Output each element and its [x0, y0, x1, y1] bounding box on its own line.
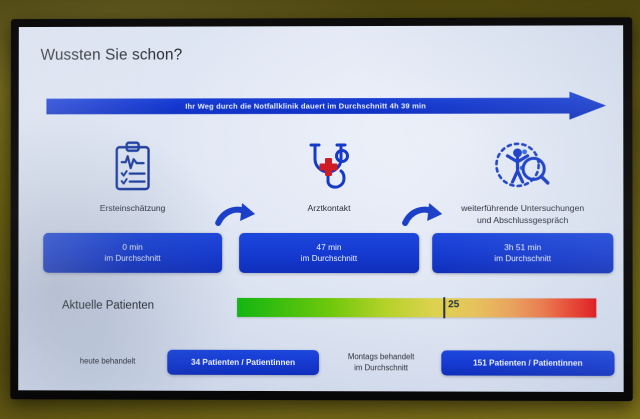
stethoscope-cross-icon	[239, 138, 419, 196]
journey-banner: Ihr Weg durch die Notfallklinik dauert i…	[46, 92, 606, 121]
stage-value-pill: 0 min im Durchschnitt	[43, 233, 222, 273]
slide-screen: Wussten Sie schon? Ihr Weg durch die Not…	[18, 25, 623, 392]
stat-caption: heute behandelt	[62, 357, 153, 368]
stage-value-sub: im Durchschnitt	[494, 253, 551, 265]
stage-value: 0 min	[122, 241, 142, 253]
stage-value-pill: 3h 51 min im Durchschnitt	[432, 233, 613, 273]
current-patients-gauge: Aktuelle Patienten 25	[18, 296, 623, 323]
stage-label-line1: weiterführende Untersuchungen	[432, 203, 613, 215]
stage-label-line2: und Abschlussgespräch	[432, 215, 613, 227]
stat-value-pill: 151 Patienten / Patientinnen	[441, 350, 614, 376]
stage-arztkontakt: Arztkontakt 47 min im Durchschnitt	[239, 138, 419, 273]
stat-caption-line1: Montags behandelt	[335, 352, 427, 363]
stage-value-pill: 47 min im Durchschnitt	[239, 233, 419, 273]
photo-scene: Wussten Sie schon? Ihr Weg durch die Not…	[0, 0, 640, 419]
stage-label: Ersteinschätzung	[43, 203, 222, 227]
stage-value-sub: im Durchschnitt	[301, 253, 357, 265]
stage-ersteinschaetzung: Ersteinschätzung 0 min im Durchschnitt	[43, 138, 222, 273]
gauge-label: Aktuelle Patienten	[62, 300, 154, 312]
stat-caption: Montags behandelt im Durchschnitt	[335, 352, 427, 374]
page-title: Wussten Sie schon?	[41, 46, 183, 64]
person-magnifier-icon	[432, 138, 613, 196]
journey-banner-text: Ihr Weg durch die Notfallklinik dauert i…	[46, 101, 566, 111]
gauge-marker	[443, 297, 445, 318]
stat-montags-behandelt: Montags behandelt im Durchschnitt 151 Pa…	[335, 350, 615, 376]
stat-caption-line2: im Durchschnitt	[335, 363, 427, 374]
stage-label: Arztkontakt	[239, 203, 419, 227]
gauge-track	[237, 298, 596, 318]
gauge-value: 25	[448, 299, 459, 310]
stage-value-sub: im Durchschnitt	[104, 253, 160, 265]
stage-value: 47 min	[316, 241, 341, 253]
clipboard-ecg-icon	[43, 138, 222, 196]
tv-display: Wussten Sie schon? Ihr Weg durch die Not…	[10, 17, 633, 401]
stat-heute-behandelt: heute behandelt 34 Patienten / Patientin…	[62, 350, 319, 376]
stage-value: 3h 51 min	[504, 241, 541, 253]
stage-weiterfuehrende-untersuchungen: weiterführende Untersuchungen und Abschl…	[432, 138, 613, 274]
stat-value-pill: 34 Patienten / Patientinnen	[167, 350, 319, 375]
stage-label: weiterführende Untersuchungen und Abschl…	[432, 203, 613, 227]
